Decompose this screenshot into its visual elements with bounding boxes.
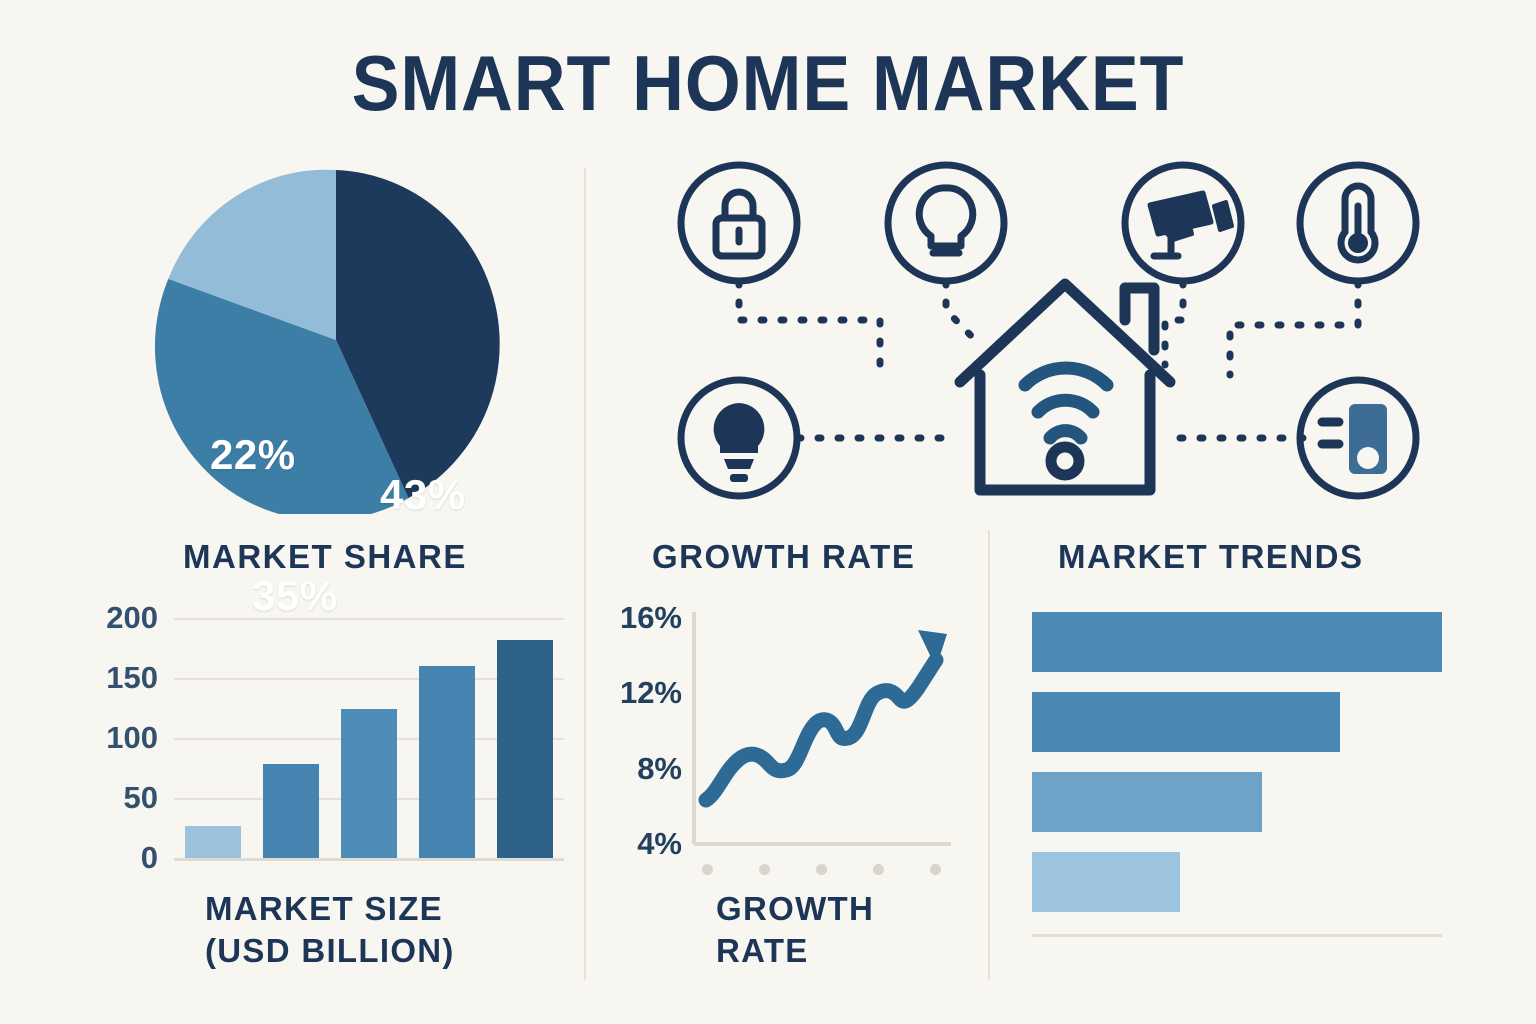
security-camera-icon — [1125, 165, 1241, 281]
bar-chart-columns — [174, 618, 564, 858]
market-size-caption: MARKET SIZE (USD BILLION) — [205, 888, 455, 972]
bar-chart-baseline — [174, 858, 564, 861]
page-title: SMART HOME MARKET — [61, 38, 1474, 129]
bar-chart-ytick-200: 200 — [96, 600, 158, 636]
line-chart-x-dot — [702, 864, 713, 875]
pie-label-43: 43% — [380, 471, 466, 519]
thermometer-icon — [1300, 165, 1416, 281]
infographic-canvas: SMART HOME MARKET 43% 35% 22% MARKET SHA… — [0, 0, 1536, 1024]
market-share-heading: MARKET SHARE — [183, 538, 467, 576]
bar-column — [263, 764, 319, 858]
smart-house-wifi-icon — [960, 284, 1170, 490]
pie-svg — [152, 166, 520, 514]
bar-column — [341, 709, 397, 858]
bar-chart-ytick-150: 150 — [96, 660, 158, 696]
lightbulb-outline-icon — [888, 165, 1004, 281]
growth-rate-caption: GROWTH RATE — [716, 888, 874, 972]
smart-home-icon-cluster — [620, 160, 1450, 520]
market-trends-baseline — [1032, 934, 1442, 937]
bar-column — [497, 640, 553, 858]
connector-camera — [1165, 282, 1183, 365]
pie-label-22: 22% — [210, 431, 296, 479]
section-divider-right — [988, 530, 990, 980]
lightbulb-filled-icon — [681, 380, 797, 496]
bar-column — [185, 826, 241, 858]
bar-chart-ytick-50: 50 — [96, 780, 158, 816]
icon-cluster-svg — [620, 160, 1450, 520]
line-chart-ytick-16%: 16% — [606, 600, 682, 636]
market-trend-bar — [1032, 692, 1340, 752]
growth-rate-heading: GROWTH RATE — [652, 538, 915, 576]
connector-lock — [739, 282, 880, 375]
market-trend-bar — [1032, 852, 1180, 912]
bar-column — [419, 666, 475, 858]
market-share-pie-chart: 43% 35% 22% — [152, 166, 520, 514]
market-trend-bar — [1032, 612, 1442, 672]
line-chart-x-dot — [930, 864, 941, 875]
line-chart-x-dot — [873, 864, 884, 875]
growth-rate-line-chart: 4%8%12%16% — [606, 596, 976, 886]
market-trend-bar — [1032, 772, 1262, 832]
market-trends-bar-chart — [1032, 612, 1442, 942]
line-chart-x-dot — [759, 864, 770, 875]
line-chart-ytick-4%: 4% — [606, 826, 682, 862]
growth-line-path — [706, 660, 936, 800]
line-chart-ytick-12%: 12% — [606, 675, 682, 711]
market-trends-heading: MARKET TRENDS — [1058, 538, 1364, 576]
smart-speaker-icon — [1300, 380, 1416, 496]
lock-icon — [681, 165, 797, 281]
line-chart-x-dot — [816, 864, 827, 875]
line-chart-ytick-8%: 8% — [606, 751, 682, 787]
section-divider-left — [584, 168, 586, 980]
bar-chart-ytick-0: 0 — [96, 840, 158, 876]
connector-thermometer — [1230, 282, 1358, 375]
connector-bulb-outline — [946, 282, 980, 345]
bar-chart-ytick-100: 100 — [96, 720, 158, 756]
market-size-bar-chart: 050100150200 — [96, 596, 564, 870]
